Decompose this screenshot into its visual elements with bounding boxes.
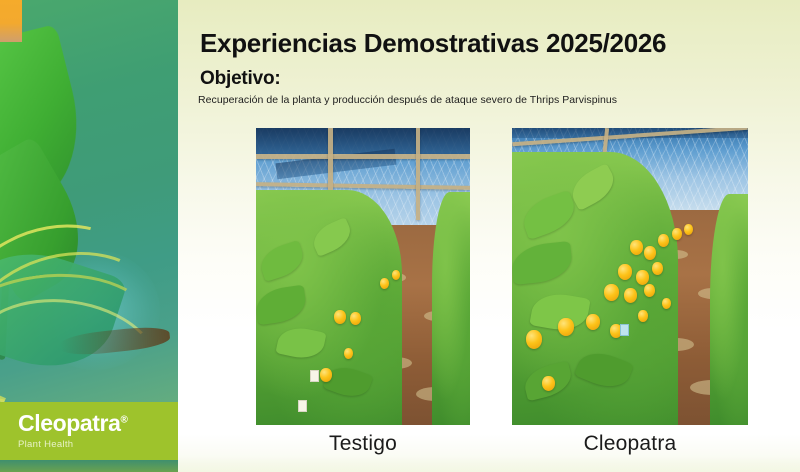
brand-name: Cleopatra®	[18, 412, 178, 435]
pepper-fruit	[542, 376, 555, 391]
plant-label-tag	[310, 370, 319, 382]
slide: Cleopatra® Plant Health Experiencias Dem…	[0, 0, 800, 472]
pepper-fruit	[350, 312, 361, 325]
caption-testigo: Testigo	[256, 432, 470, 456]
photo-testigo	[256, 128, 470, 425]
pepper-fruit	[380, 278, 389, 289]
brand-logo: Cleopatra® Plant Health	[0, 402, 178, 460]
pepper-fruit	[658, 234, 669, 247]
pepper-fruit	[644, 246, 656, 260]
brand-tagline: Plant Health	[18, 439, 178, 450]
roof-beam	[256, 154, 470, 159]
pepper-fruit	[636, 270, 649, 285]
pepper-fruit	[624, 288, 637, 303]
plant-label-tag	[620, 324, 629, 336]
sidebar-footer-strip	[0, 460, 178, 472]
pepper-fruit	[320, 368, 332, 382]
roof-post	[416, 128, 420, 220]
pepper-fruit	[526, 330, 542, 349]
photo-cleopatra	[512, 128, 748, 425]
caption-cleopatra: Cleopatra	[512, 432, 748, 456]
bottom-edge-tint	[178, 456, 800, 472]
objective-label: Objetivo:	[200, 68, 281, 90]
pepper-fruit	[684, 224, 693, 235]
sidebar-brand-panel: Cleopatra® Plant Health	[0, 0, 178, 472]
shade-cloth	[256, 128, 470, 154]
registered-trademark-icon: ®	[120, 414, 127, 425]
page-title: Experiencias Demostrativas 2025/2026	[200, 28, 666, 59]
pepper-fruit	[618, 264, 632, 280]
pepper-fruit	[644, 284, 655, 297]
pepper-fruit	[630, 240, 643, 255]
pepper-fruit	[652, 262, 663, 275]
pepper-fruit	[558, 318, 574, 336]
plant-label-tag	[298, 400, 307, 412]
pepper-fruit	[392, 270, 400, 280]
pepper-fruit	[672, 228, 682, 240]
objective-text: Recuperación de la planta y producción d…	[198, 94, 617, 106]
brand-name-text: Cleopatra	[18, 410, 120, 436]
pepper-fruit	[344, 348, 353, 359]
pepper-fruit	[662, 298, 671, 309]
pepper-fruit	[334, 310, 346, 324]
accent-strip	[0, 0, 22, 42]
pepper-fruit	[586, 314, 600, 330]
pepper-fruit	[638, 310, 648, 322]
pepper-fruit	[604, 284, 619, 301]
crop-row-foliage-far	[432, 192, 470, 425]
crop-row-foliage-far	[710, 194, 748, 425]
